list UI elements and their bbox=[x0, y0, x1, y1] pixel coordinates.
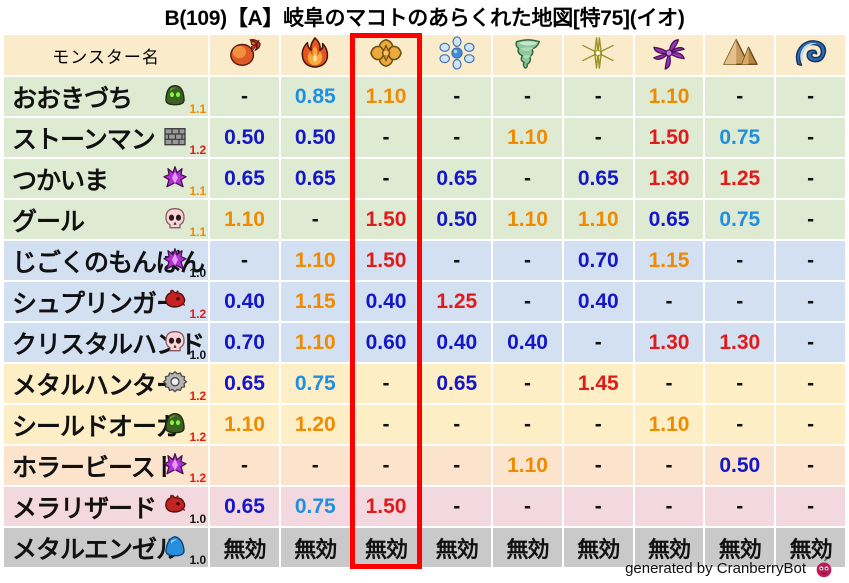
damage-value-cell: 0.65 bbox=[210, 364, 279, 403]
damage-value-cell: - bbox=[705, 364, 774, 403]
monster-name-label: ストーンマン bbox=[12, 120, 155, 156]
table-row: メタルハンター 1.20.650.75-0.65-1.45--- bbox=[4, 364, 845, 403]
damage-value-cell: - bbox=[776, 282, 845, 321]
damage-value-cell: - bbox=[564, 446, 633, 485]
damage-value-cell: 1.20 bbox=[281, 405, 350, 444]
damage-value-cell: 0.70 bbox=[564, 241, 633, 280]
damage-value-cell: 1.50 bbox=[352, 487, 421, 526]
table-row: ストーンマン 1.20.500.50--1.10-1.500.75- bbox=[4, 118, 845, 157]
damage-value-cell: 1.30 bbox=[635, 323, 704, 362]
damage-value-cell: - bbox=[776, 364, 845, 403]
snowflake-icon bbox=[438, 36, 476, 70]
purple-demon-icon bbox=[162, 246, 188, 272]
damage-value-cell: 0.40 bbox=[564, 282, 633, 321]
damage-value-cell: 1.10 bbox=[493, 118, 562, 157]
damage-value-cell: - bbox=[210, 241, 279, 280]
damage-value-cell: 0.50 bbox=[210, 118, 279, 157]
damage-value-cell: - bbox=[493, 405, 562, 444]
damage-value-cell: - bbox=[635, 487, 704, 526]
damage-value-cell: - bbox=[776, 77, 845, 116]
damage-value-cell: - bbox=[564, 77, 633, 116]
damage-value-cell: 0.65 bbox=[635, 200, 704, 239]
page-title: B(109)【A】岐阜のマコトのあらくれた地図[特75](イオ) bbox=[0, 0, 849, 33]
skull-icon bbox=[162, 205, 188, 231]
damage-value-cell: - bbox=[776, 405, 845, 444]
monster-name-label: ホラービースト bbox=[12, 448, 179, 484]
damage-value-cell: - bbox=[564, 405, 633, 444]
damage-value-cell: - bbox=[422, 446, 491, 485]
damage-value-cell: - bbox=[493, 159, 562, 198]
damage-value-cell: - bbox=[352, 159, 421, 198]
damage-value-cell: 0.75 bbox=[281, 487, 350, 526]
table-row: シールドオーガ 1.21.101.20----1.10-- bbox=[4, 405, 845, 444]
monster-level-badge: 1.1 bbox=[189, 225, 206, 239]
table-row: メラリザード 1.00.650.751.50------ bbox=[4, 487, 845, 526]
table-row: グール 1.11.10-1.500.501.101.100.650.75- bbox=[4, 200, 845, 239]
damage-value-cell: - bbox=[352, 446, 421, 485]
purple-demon-icon bbox=[162, 164, 188, 190]
column-header-explosion[interactable] bbox=[352, 35, 421, 75]
slime-blue-icon bbox=[162, 533, 188, 559]
table-row: つかいま 1.10.650.65-0.65-0.651.301.25- bbox=[4, 159, 845, 198]
damage-value-cell: 0.65 bbox=[564, 159, 633, 198]
footer: generated by CranberryBot bbox=[0, 557, 849, 579]
damage-value-cell: - bbox=[352, 405, 421, 444]
skull-icon bbox=[162, 328, 188, 354]
damage-value-cell: 0.70 bbox=[210, 323, 279, 362]
damage-value-cell: 0.85 bbox=[281, 77, 350, 116]
monster-name-label: つかいま bbox=[12, 161, 108, 197]
damage-value-cell: - bbox=[705, 241, 774, 280]
monster-name-label: シュプリンガー bbox=[12, 284, 180, 320]
table-body: おおきづち 1.1-0.851.10---1.10--ストーンマン 1.20.5… bbox=[4, 77, 845, 567]
damage-value-cell: 1.15 bbox=[281, 282, 350, 321]
cranberry-icon bbox=[813, 557, 835, 579]
damage-value-cell: - bbox=[493, 77, 562, 116]
damage-value-cell: 0.65 bbox=[281, 159, 350, 198]
damage-value-cell: 1.45 bbox=[564, 364, 633, 403]
damage-value-cell: - bbox=[352, 118, 421, 157]
damage-value-cell: 1.50 bbox=[352, 200, 421, 239]
monster-name-cell[interactable]: シュプリンガー 1.2 bbox=[4, 282, 208, 321]
damage-value-cell: - bbox=[493, 241, 562, 280]
monster-level-badge: 1.1 bbox=[189, 102, 206, 116]
damage-value-cell: - bbox=[210, 77, 279, 116]
damage-value-cell: 1.30 bbox=[705, 323, 774, 362]
damage-value-cell: - bbox=[635, 446, 704, 485]
monster-level-badge: 1.2 bbox=[189, 307, 206, 321]
monster-level-badge: 1.2 bbox=[189, 430, 206, 444]
damage-value-cell: - bbox=[422, 77, 491, 116]
damage-value-cell: - bbox=[493, 487, 562, 526]
damage-value-cell: - bbox=[422, 118, 491, 157]
table-row: おおきづち 1.1-0.851.10---1.10-- bbox=[4, 77, 845, 116]
monster-name-cell[interactable]: ストーンマン 1.2 bbox=[4, 118, 208, 157]
damage-value-cell: 1.15 bbox=[635, 241, 704, 280]
damage-value-cell: - bbox=[776, 118, 845, 157]
column-header-light-star[interactable] bbox=[564, 35, 633, 75]
column-header-mountain[interactable] bbox=[705, 35, 774, 75]
slime-green-icon bbox=[162, 82, 188, 108]
monster-name-cell[interactable]: シールドオーガ 1.2 bbox=[4, 405, 208, 444]
table-row: シュプリンガー 1.20.401.150.401.25-0.40--- bbox=[4, 282, 845, 321]
table-row: クリスタルハンド 1.00.701.100.600.400.40-1.301.3… bbox=[4, 323, 845, 362]
damage-value-cell: - bbox=[635, 282, 704, 321]
damage-value-cell: - bbox=[422, 241, 491, 280]
damage-value-cell: 1.10 bbox=[210, 200, 279, 239]
mountain-icon bbox=[721, 36, 759, 70]
monster-name-cell[interactable]: グール 1.1 bbox=[4, 200, 208, 239]
monster-level-badge: 1.2 bbox=[189, 389, 206, 403]
column-header-monster-name: モンスター名 bbox=[4, 35, 208, 75]
damage-value-cell: - bbox=[776, 159, 845, 198]
damage-value-cell: 0.60 bbox=[352, 323, 421, 362]
damage-value-cell: 0.50 bbox=[422, 200, 491, 239]
column-header-tornado[interactable] bbox=[493, 35, 562, 75]
light-star-icon bbox=[579, 36, 617, 70]
damage-value-cell: - bbox=[776, 446, 845, 485]
damage-value-cell: - bbox=[776, 241, 845, 280]
damage-value-cell: 1.25 bbox=[705, 159, 774, 198]
table-row: ホラービースト 1.2----1.10--0.50- bbox=[4, 446, 845, 485]
damage-value-cell: 1.10 bbox=[352, 77, 421, 116]
monster-name-cell[interactable]: メラリザード 1.0 bbox=[4, 487, 208, 526]
column-header-fireball[interactable] bbox=[210, 35, 279, 75]
flame-icon bbox=[296, 36, 334, 70]
damage-value-cell: - bbox=[776, 487, 845, 526]
brick-icon bbox=[162, 123, 188, 149]
dark-flower-icon bbox=[650, 36, 688, 70]
damage-value-cell: - bbox=[776, 323, 845, 362]
damage-value-cell: - bbox=[493, 364, 562, 403]
damage-value-cell: 0.75 bbox=[705, 118, 774, 157]
footer-credit-text: generated by CranberryBot bbox=[625, 560, 806, 577]
monster-name-label: シールドオーガ bbox=[12, 407, 180, 443]
damage-value-cell: 1.10 bbox=[281, 241, 350, 280]
damage-value-cell: - bbox=[705, 282, 774, 321]
damage-value-cell: - bbox=[564, 118, 633, 157]
damage-value-cell: 0.75 bbox=[281, 364, 350, 403]
damage-value-cell: 0.65 bbox=[210, 487, 279, 526]
column-header-dark-flower[interactable] bbox=[635, 35, 704, 75]
monster-level-badge: 1.2 bbox=[189, 143, 206, 157]
damage-value-cell: - bbox=[281, 200, 350, 239]
monster-name-label: メタルハンター bbox=[12, 366, 180, 402]
damage-value-cell: 1.10 bbox=[635, 77, 704, 116]
monster-name-label: メラリザード bbox=[12, 489, 156, 525]
damage-value-cell: - bbox=[210, 446, 279, 485]
tornado-icon bbox=[509, 36, 547, 70]
damage-value-cell: 1.10 bbox=[493, 446, 562, 485]
damage-value-cell: - bbox=[281, 446, 350, 485]
damage-value-cell: 1.50 bbox=[352, 241, 421, 280]
monster-level-badge: 1.0 bbox=[189, 266, 206, 280]
damage-value-cell: 1.50 bbox=[635, 118, 704, 157]
damage-value-cell: - bbox=[705, 405, 774, 444]
damage-multiplier-table: モンスター名 bbox=[2, 33, 847, 569]
damage-value-cell: 1.10 bbox=[493, 200, 562, 239]
damage-multiplier-table-wrap: モンスター名 bbox=[0, 33, 849, 569]
explosion-icon bbox=[367, 36, 405, 70]
monster-name-label: おおきづち bbox=[12, 79, 132, 115]
damage-value-cell: 0.40 bbox=[422, 323, 491, 362]
damage-value-cell: 1.10 bbox=[635, 405, 704, 444]
damage-value-cell: - bbox=[705, 487, 774, 526]
column-header-flame[interactable] bbox=[281, 35, 350, 75]
table-row: じごくのもんばん 1.0-1.101.50--0.701.15-- bbox=[4, 241, 845, 280]
damage-value-cell: 0.40 bbox=[493, 323, 562, 362]
damage-value-cell: 1.30 bbox=[635, 159, 704, 198]
monster-name-label: グール bbox=[12, 202, 84, 238]
monster-name-cell[interactable]: ホラービースト 1.2 bbox=[4, 446, 208, 485]
table-header-row: モンスター名 bbox=[4, 35, 845, 75]
damage-value-cell: 0.40 bbox=[352, 282, 421, 321]
monster-level-badge: 1.0 bbox=[189, 348, 206, 362]
damage-value-cell: - bbox=[493, 282, 562, 321]
damage-value-cell: - bbox=[352, 364, 421, 403]
monster-name-cell[interactable]: メタルハンター 1.2 bbox=[4, 364, 208, 403]
monster-level-badge: 1.2 bbox=[189, 471, 206, 485]
monster-name-cell[interactable]: じごくのもんばん 1.0 bbox=[4, 241, 208, 280]
damage-value-cell: 0.50 bbox=[705, 446, 774, 485]
damage-value-cell: 0.65 bbox=[422, 159, 491, 198]
wave-icon bbox=[792, 36, 830, 70]
monster-level-badge: 1.0 bbox=[189, 512, 206, 526]
damage-value-cell: - bbox=[776, 200, 845, 239]
damage-value-cell: 0.65 bbox=[210, 159, 279, 198]
column-header-snowflake[interactable] bbox=[422, 35, 491, 75]
damage-value-cell: 1.10 bbox=[210, 405, 279, 444]
monster-name-cell[interactable]: つかいま 1.1 bbox=[4, 159, 208, 198]
purple-demon-icon bbox=[162, 451, 188, 477]
damage-value-cell: 1.25 bbox=[422, 282, 491, 321]
monster-level-badge: 1.1 bbox=[189, 184, 206, 198]
damage-value-cell: - bbox=[422, 487, 491, 526]
damage-value-cell: - bbox=[422, 405, 491, 444]
damage-value-cell: - bbox=[564, 487, 633, 526]
damage-value-cell: 0.50 bbox=[281, 118, 350, 157]
fireball-icon bbox=[226, 36, 264, 70]
monster-name-cell[interactable]: クリスタルハンド 1.0 bbox=[4, 323, 208, 362]
damage-value-cell: 1.10 bbox=[564, 200, 633, 239]
red-dragon-icon bbox=[162, 492, 188, 518]
slime-green-icon bbox=[162, 410, 188, 436]
column-header-wave[interactable] bbox=[776, 35, 845, 75]
red-dragon-icon bbox=[162, 287, 188, 313]
monster-name-cell[interactable]: おおきづち 1.1 bbox=[4, 77, 208, 116]
damage-value-cell: 1.10 bbox=[281, 323, 350, 362]
damage-value-cell: 0.65 bbox=[422, 364, 491, 403]
damage-value-cell: - bbox=[705, 77, 774, 116]
damage-value-cell: 0.75 bbox=[705, 200, 774, 239]
gear-icon bbox=[162, 369, 188, 395]
damage-value-cell: - bbox=[635, 364, 704, 403]
damage-value-cell: - bbox=[564, 323, 633, 362]
damage-value-cell: 0.40 bbox=[210, 282, 279, 321]
